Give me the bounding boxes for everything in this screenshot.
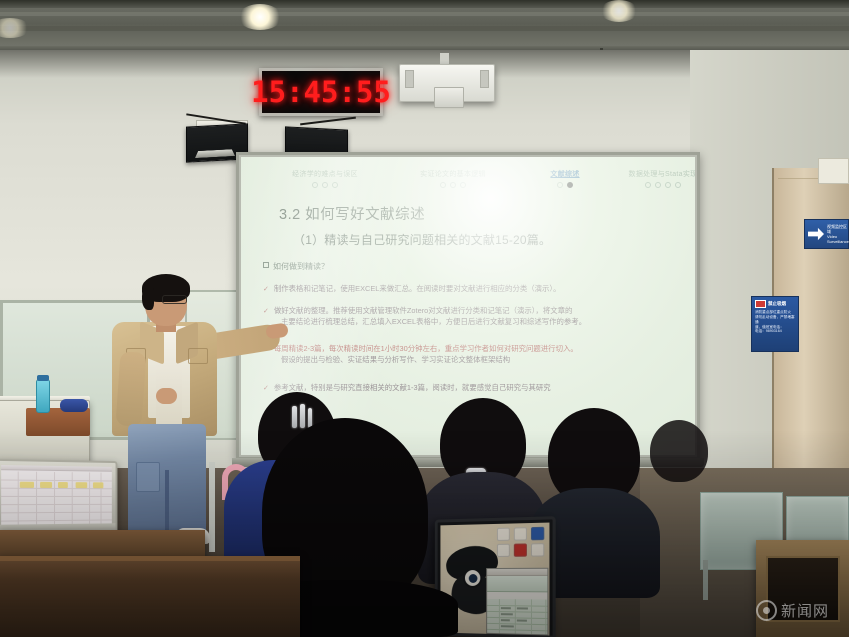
slide-nav-item-2: 实证论文的基本逻辑	[393, 169, 513, 188]
check-icon: ✓	[263, 308, 269, 315]
slide-bullet-3-line1: 每周精读2-3篇，每次精读时间在1小时30分钟左右，重点学习作者如何对研究问题进…	[274, 344, 578, 353]
desktop-icon[interactable]	[531, 543, 544, 556]
highlighted-cell	[58, 482, 68, 488]
slide-subheading: （1）精读与自己研究问题相关的文献15-20篇。	[293, 231, 551, 248]
highlighted-cell	[93, 482, 103, 488]
slide-nav-dots-2	[393, 182, 513, 188]
eyeglasses-icon	[162, 295, 187, 304]
nav-dot	[665, 182, 671, 188]
window-titlebar[interactable]	[487, 569, 547, 576]
student-rear-head	[650, 420, 708, 482]
instructor-laptop-screen	[1, 465, 112, 525]
instructor-hair-side	[142, 288, 154, 310]
instructor-chest-pocket-right	[188, 348, 208, 364]
video-sign-subtitle: Video Surveillance	[827, 234, 849, 244]
ceiling-beam-front	[0, 0, 849, 8]
highlighted-cell	[76, 482, 88, 488]
desktop-icon[interactable]	[514, 543, 527, 556]
nav-dot	[312, 182, 318, 188]
check-icon: ✓	[263, 385, 269, 392]
front-desk-edge	[0, 556, 300, 561]
slide-section-nav: 经济学的难点与误区 实证论文的基本逻辑	[241, 169, 695, 199]
desktop-icon[interactable]	[497, 528, 510, 541]
water-bottle	[36, 379, 50, 413]
slide-bullet-3-line2: 假设的提出与检验、实证结果与分析写作、学习实证论文整体框架结构	[281, 355, 578, 366]
chair-leg	[703, 560, 708, 600]
speaker-cone-left	[195, 149, 235, 158]
slide-nav-label-4: 数据处理与Stata实现	[603, 169, 695, 179]
nav-dot	[450, 182, 456, 188]
hair-clip	[292, 406, 297, 428]
ceiling-light-1	[238, 4, 282, 30]
slide-question-text: 如何做到精读？	[273, 262, 329, 271]
nav-dot	[655, 182, 661, 188]
desktop-icon[interactable]	[531, 527, 544, 541]
nav-dot	[332, 182, 338, 188]
instructor-laptop[interactable]	[0, 459, 117, 539]
desktop-icon[interactable]	[497, 544, 510, 557]
spreadsheet-window[interactable]	[486, 568, 548, 636]
check-icon: ✓	[263, 286, 269, 293]
spreadsheet-ribbon[interactable]	[487, 576, 547, 592]
camera-icon	[808, 226, 824, 242]
instructor-jeans-seam	[165, 470, 169, 536]
ceiling-beam-mid	[0, 26, 849, 31]
watermark-text: 新闻网	[781, 600, 829, 621]
ceiling-light-3	[0, 18, 30, 38]
camera-logo-icon	[756, 600, 777, 621]
desktop-icons[interactable]	[497, 527, 545, 557]
slide-bullet-2-line1: 做好文献的整理。推荐使用文献管理软件Zotero对文献进行分类和记笔记（演示），…	[274, 306, 573, 315]
equipment-tray	[26, 408, 90, 436]
projector-vent-right	[480, 70, 489, 88]
slide-nav-item-3-active: 文献综述	[529, 169, 601, 188]
highlighted-cell	[40, 482, 52, 488]
slide-bullet-1: ✓制作表格和记笔记，使用EXCEL来做汇总。在阅读时要对文献进行相应的分类（演示…	[263, 284, 560, 295]
slide-nav-item-1: 经济学的难点与误区	[265, 169, 385, 188]
nav-dot	[645, 182, 651, 188]
slide-nav-label-3: 文献综述	[529, 169, 601, 179]
classroom-scene: 15:45:55 视频监控区域 Video Surveillance 禁止吸烟 …	[0, 0, 849, 637]
video-sign-title: 视频监控区域	[827, 224, 849, 234]
hair-clip	[300, 404, 305, 428]
slide-bullet-3: ✓每周精读2-3篇，每次精读时间在1小时30分钟左右，重点学习作者如何对研究问题…	[263, 344, 578, 366]
notice-sign-title: 禁止吸烟	[768, 301, 786, 307]
instructor-jeans-pocket	[136, 462, 160, 492]
slide-bullet-4-line1: 参考文献，特别是与研究直接相关的文献1-3篇，阅读时，就要感觉自己研究与其研究	[274, 383, 551, 392]
nav-dot	[557, 182, 563, 188]
slide-nav-dots-1	[265, 182, 385, 188]
ceiling-projector	[399, 64, 495, 102]
slide-nav-item-4: 数据处理与Stata实现	[603, 169, 695, 188]
blue-pencil-case	[60, 399, 88, 412]
slide-heading: 3.2 如何写好文献综述	[279, 203, 425, 224]
slide-nav-label-2: 实证论文的基本逻辑	[393, 169, 513, 179]
video-surveillance-sign: 视频监控区域 Video Surveillance	[804, 219, 849, 249]
slide-nav-dots-4	[603, 182, 695, 188]
front-desk	[0, 556, 300, 637]
spreadsheet-grid[interactable]	[487, 599, 547, 635]
no-smoking-icon	[755, 300, 766, 308]
nav-dot-active	[567, 182, 573, 188]
fire-safety-notice-sign: 禁止吸烟 消防重点部位重点防火 请勿乱动设备，严禁堵塞通 道，值班室电话： 电话…	[751, 296, 799, 352]
slide-question: 如何做到精读？	[263, 261, 329, 272]
nav-dot	[460, 182, 466, 188]
led-wall-clock: 15:45:55	[259, 68, 383, 116]
ceiling-pipe	[0, 12, 849, 16]
projector-vent-left	[405, 70, 414, 88]
instructor-left-arm	[115, 351, 146, 427]
watermark: 新闻网	[756, 600, 829, 621]
projector-lens	[434, 87, 464, 108]
ceiling-light-2	[600, 0, 638, 22]
wallpaper-cartoon-pupil	[469, 574, 478, 583]
slide-nav-label-1: 经济学的难点与误区	[265, 169, 385, 179]
wall-plaque	[818, 158, 849, 184]
slide-bullet-1-line1: 制作表格和记笔记，使用EXCEL来做汇总。在阅读时要对文献进行相应的分类（演示）…	[274, 284, 561, 293]
nav-dot	[440, 182, 446, 188]
nav-dot	[322, 182, 328, 188]
nav-dot	[675, 182, 681, 188]
bottle-cap	[37, 375, 49, 381]
slide-nav-dots-3	[529, 182, 601, 188]
clock-time-display: 15:45:55	[251, 75, 391, 109]
highlighted-cell	[20, 482, 34, 488]
checkbox-icon	[263, 262, 269, 268]
slide-bullet-2-line2: 主要结论进行梳理总结，汇总填入EXCEL表格中，方便日后进行文献复习和综述写作的…	[281, 317, 586, 328]
desktop-icon[interactable]	[514, 527, 527, 540]
instructor-left-hand	[156, 388, 177, 404]
notice-sign-body: 消防重点部位重点防火 请勿乱动设备，严禁堵塞通 道，值班室电话： 电话：9890…	[755, 310, 795, 334]
slide-bullet-2: ✓做好文献的整理。推荐使用文献管理软件Zotero对文献进行分类和记笔记（演示）…	[263, 306, 586, 328]
